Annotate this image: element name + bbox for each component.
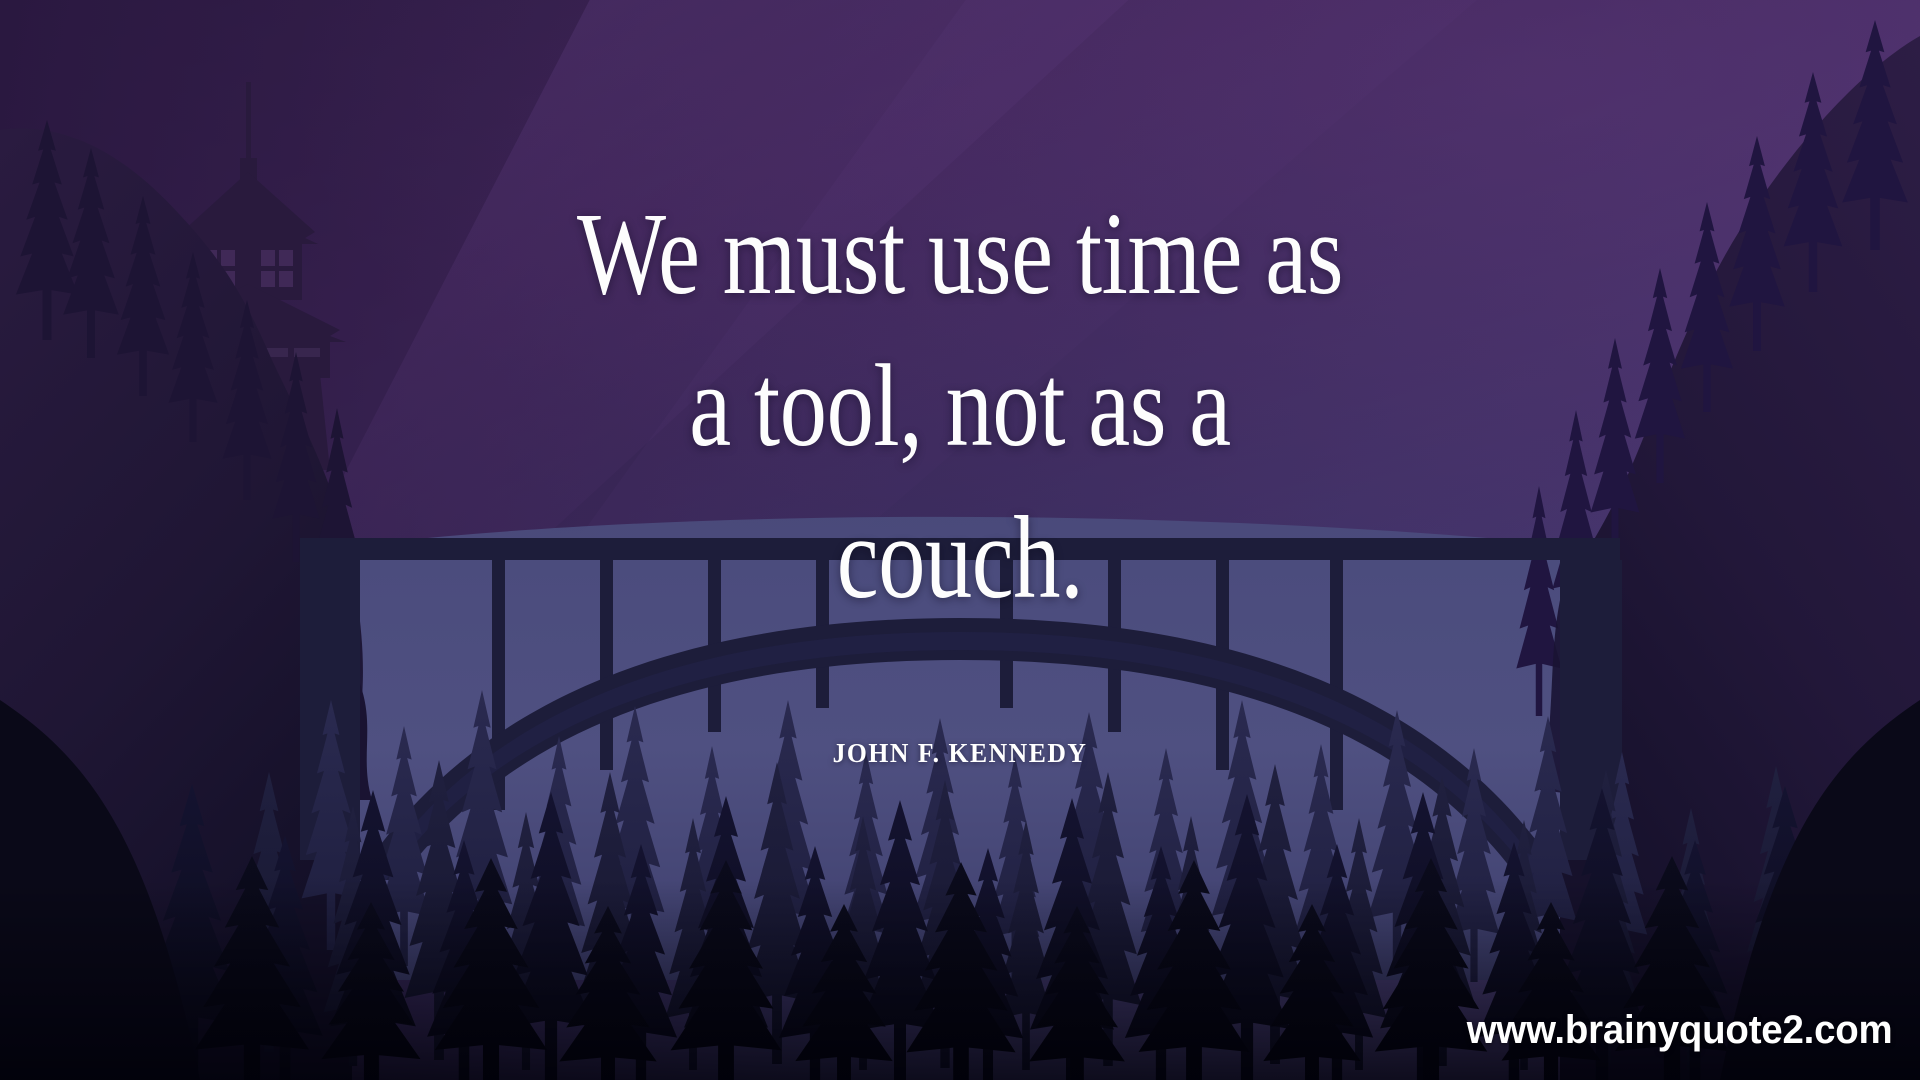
site-watermark: www.brainyquote2.com: [1466, 1008, 1892, 1053]
background-illustration: [0, 0, 1920, 1080]
quote-author: JOHN F. KENNEDY: [48, 738, 1872, 769]
quote-card: We must use time as a tool, not as a cou…: [0, 0, 1920, 1080]
